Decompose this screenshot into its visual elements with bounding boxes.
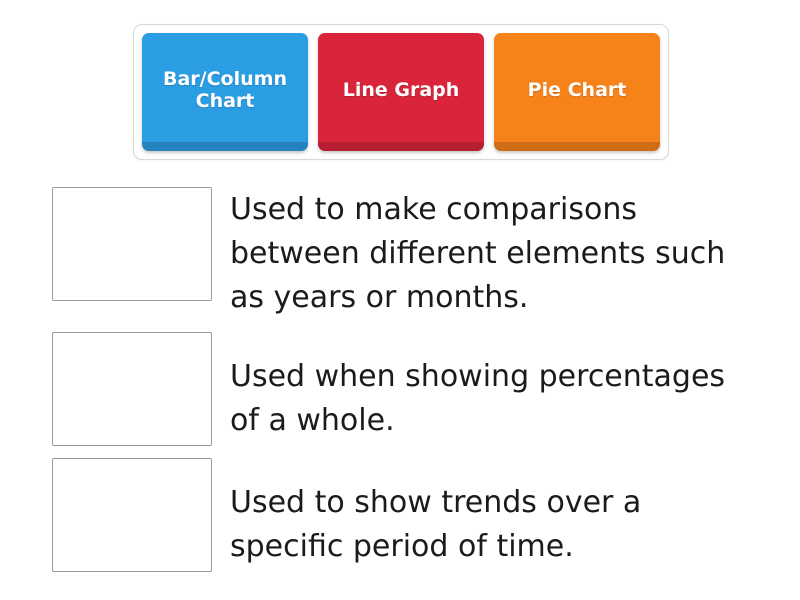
- tile-bar-column-chart[interactable]: Bar/Column Chart: [142, 33, 308, 151]
- answer-text-1: Used to make comparisons between differe…: [212, 187, 762, 320]
- answer-rows: Used to make comparisons between differe…: [52, 187, 762, 572]
- tile-pie-chart[interactable]: Pie Chart: [494, 33, 660, 151]
- tile-line-graph[interactable]: Line Graph: [318, 33, 484, 151]
- answer-row: Used to make comparisons between differe…: [52, 187, 762, 320]
- tile-label: Bar/Column Chart: [150, 68, 300, 113]
- dropzone-1[interactable]: [52, 187, 212, 301]
- tile-label: Pie Chart: [528, 79, 627, 101]
- answer-row: Used to show trends over a specific peri…: [52, 458, 762, 572]
- draggable-tiles-tray: Bar/Column Chart Line Graph Pie Chart: [133, 24, 669, 160]
- answer-row: Used when showing percentages of a whole…: [52, 332, 762, 446]
- answer-text-3: Used to show trends over a specific peri…: [212, 458, 762, 569]
- dropzone-2[interactable]: [52, 332, 212, 446]
- dropzone-3[interactable]: [52, 458, 212, 572]
- activity-canvas: Bar/Column Chart Line Graph Pie Chart Us…: [0, 0, 800, 600]
- tile-label: Line Graph: [343, 79, 460, 101]
- answer-text-2: Used when showing percentages of a whole…: [212, 332, 762, 443]
